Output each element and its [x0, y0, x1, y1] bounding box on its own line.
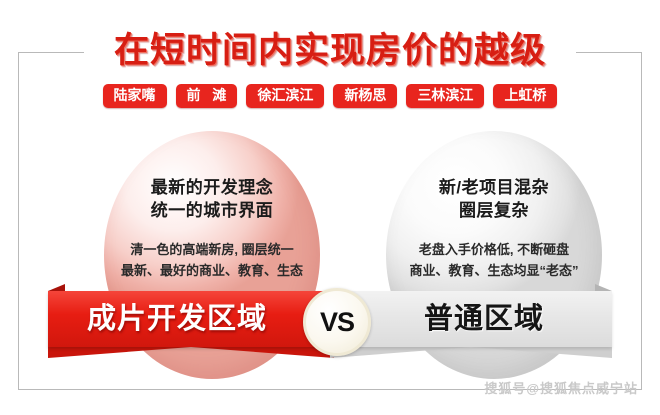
district-tag[interactable]: 徐汇滨江 — [246, 84, 324, 108]
district-tag[interactable]: 前 滩 — [176, 84, 238, 108]
left-bubble-headline: 最新的开发理念 统一的城市界面 — [104, 176, 320, 223]
right-body-line-1: 老盘入手价格低, 不断砸盘 — [386, 239, 602, 260]
left-headline-line-2: 统一的城市界面 — [104, 199, 320, 222]
district-tag-list: 陆家嘴 前 滩 徐汇滨江 新杨思 三林滨江 上虹桥 — [0, 84, 660, 108]
right-bubble-headline: 新/老项目混杂 圈层复杂 — [386, 176, 602, 223]
red-band-label: 成片开发区域 — [48, 291, 306, 347]
left-body-line-1: 清一色的高端新房, 圈层统一 — [104, 239, 320, 260]
district-tag[interactable]: 上虹桥 — [493, 84, 557, 108]
grey-ribbon-fold — [595, 284, 612, 291]
left-headline-line-1: 最新的开发理念 — [104, 176, 320, 199]
grey-ribbon-skirt — [330, 347, 612, 358]
poster-canvas: 在短时间内实现房价的越级 陆家嘴 前 滩 徐汇滨江 新杨思 三林滨江 上虹桥 最… — [0, 0, 660, 415]
page-title: 在短时间内实现房价的越级 — [0, 22, 660, 73]
left-body-line-2: 最新、最好的商业、教育、生态 — [104, 260, 320, 281]
district-tag[interactable]: 新杨思 — [333, 84, 397, 108]
right-bubble-body: 老盘入手价格低, 不断砸盘 商业、教育、生态均显“老态” — [386, 239, 602, 281]
grey-band-label: 普通区域 — [356, 291, 612, 347]
source-watermark: 搜狐号@搜狐焦点威宁站 — [484, 378, 638, 397]
left-bubble-body: 清一色的高端新房, 圈层统一 最新、最好的商业、教育、生态 — [104, 239, 320, 281]
district-tag[interactable]: 陆家嘴 — [103, 84, 167, 108]
district-tag[interactable]: 三林滨江 — [406, 84, 484, 108]
vs-badge: VS — [303, 288, 371, 356]
right-headline-line-2: 圈层复杂 — [386, 199, 602, 222]
right-body-line-2: 商业、教育、生态均显“老态” — [386, 260, 602, 281]
red-ribbon-skirt — [48, 347, 334, 358]
right-headline-line-1: 新/老项目混杂 — [386, 176, 602, 199]
red-ribbon-fold — [48, 284, 65, 291]
